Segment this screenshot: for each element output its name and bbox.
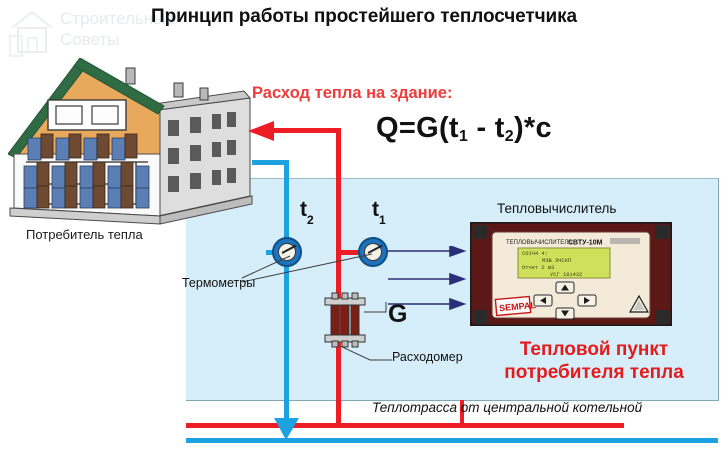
calculator-label: Тепловычислитель: [497, 201, 616, 216]
building-label: Потребитель тепла: [26, 227, 143, 242]
t1-index: 1: [379, 213, 386, 227]
formula-lhs: Q=G(: [376, 112, 449, 144]
svg-text:СО1Ч4 4:: СО1Ч4 4:: [522, 251, 548, 257]
formula-rhs: )*c: [514, 112, 552, 144]
building-illustration: [8, 58, 266, 230]
t2-symbol: t: [300, 198, 307, 221]
temperature-label-t2: t2: [300, 198, 314, 224]
heat-point-title: Тепловой пункт потребителя тепла: [482, 338, 706, 384]
formula-t1-sub: 1: [459, 128, 468, 145]
svg-text:ТЕПЛОВЫЧИСЛИТЕЛЬ: ТЕПЛОВЫЧИСЛИТЕЛЬ: [506, 240, 572, 246]
return-pipe-main: [186, 438, 718, 443]
t2-index: 2: [307, 213, 314, 227]
return-pipe-to-building: [252, 160, 289, 165]
heat-consumption-caption: Расход тепла на здание:: [252, 84, 452, 103]
radiators: [24, 134, 149, 208]
formula-minus: -: [468, 112, 495, 144]
supply-arrow-icon: [248, 121, 280, 141]
svg-text:Отчет 2 м3: Отчет 2 м3: [522, 265, 554, 271]
formula-t2-sub: 2: [505, 128, 514, 145]
heat-calculator-device[interactable]: ТЕПЛОВЫЧИСЛИТЕЛЬ СВТУ-10М СО1Ч4 4: МЗВ З…: [470, 222, 672, 326]
formula-t2: t: [495, 112, 505, 144]
t1-symbol: t: [372, 198, 379, 221]
main-heat-line-label: Теплотрасса от центральной котельной: [372, 400, 642, 415]
supply-pipe-main: [186, 423, 624, 428]
svg-text:УСГ 181432: УСГ 181432: [550, 272, 582, 278]
flow-meter: [322, 292, 368, 348]
watermark-line-2: Советы: [60, 29, 175, 50]
thermometers-label: Термометры: [182, 276, 255, 290]
heat-formula: Q=G(t1 - t2)*c: [376, 112, 552, 145]
return-arrow-icon: [274, 406, 299, 440]
page-title: Принцип работы простейшего теплосчетчика: [0, 6, 728, 28]
supply-pipe-to-building: [272, 128, 341, 133]
heat-point-line-2: потребителя тепла: [482, 361, 706, 384]
heat-point-line-1: Тепловой пункт: [482, 338, 706, 361]
svg-text:МЗВ ЗЧСКП: МЗВ ЗЧСКП: [542, 258, 571, 264]
diagram-canvas: Строительные Советы Принцип работы прост…: [0, 0, 728, 456]
formula-t1: t: [449, 112, 459, 144]
flow-meter-label: Расходомер: [392, 350, 463, 364]
signal-arrows: [388, 246, 470, 310]
flow-meter-leader: [340, 346, 394, 364]
svg-text:СВТУ-10М: СВТУ-10М: [568, 240, 603, 247]
temperature-label-t1: t1: [372, 198, 386, 224]
